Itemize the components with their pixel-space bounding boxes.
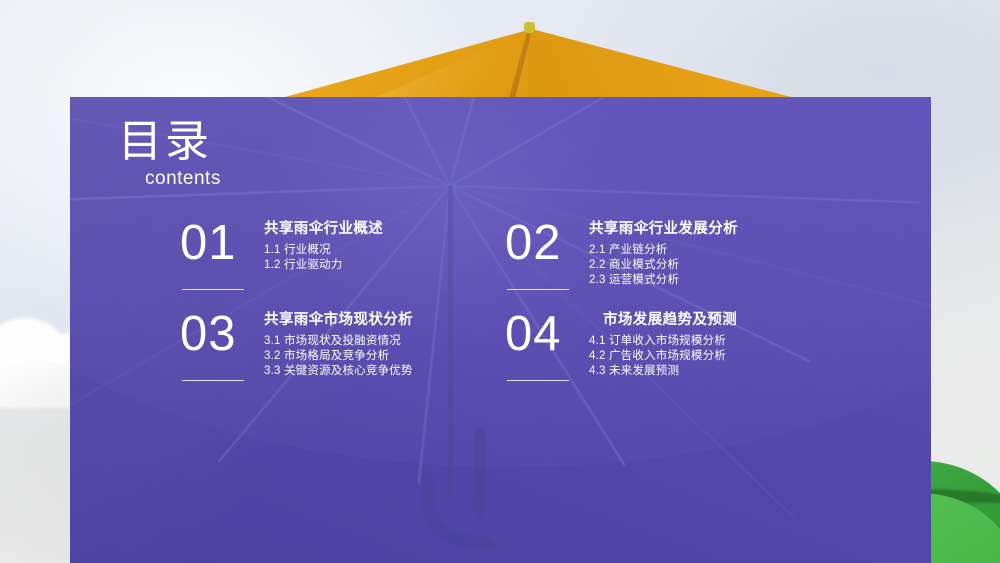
yellow-umbrella-tip bbox=[524, 22, 535, 33]
toc-divider bbox=[507, 289, 569, 290]
umbrella-handle-hook bbox=[422, 469, 498, 547]
page-title: 目录 contents bbox=[118, 119, 221, 190]
toc-subitem[interactable]: 2.1 产业链分析 bbox=[589, 243, 738, 258]
toc-subitem[interactable]: 4.1 订单收入市场规模分析 bbox=[589, 334, 737, 349]
toc-item-01[interactable]: 01 共享雨伞行业概述 1.1 行业概况 1.2 行业驱动力 bbox=[180, 215, 505, 288]
toc-subitem[interactable]: 2.2 商业模式分析 bbox=[589, 258, 738, 273]
table-of-contents: 01 共享雨伞行业概述 1.1 行业概况 1.2 行业驱动力 02 共享雨伞行业… bbox=[180, 215, 920, 379]
toc-divider bbox=[507, 380, 569, 381]
toc-number: 02 bbox=[505, 215, 589, 269]
toc-subitem[interactable]: 4.2 广告收入市场规模分析 bbox=[589, 349, 737, 364]
toc-number: 01 bbox=[180, 215, 264, 269]
toc-divider bbox=[182, 380, 244, 381]
toc-divider bbox=[182, 289, 244, 290]
toc-subitem[interactable]: 2.3 运营模式分析 bbox=[589, 273, 738, 288]
toc-body: 共享雨伞市场现状分析 3.1 市场现状及投融资情况 3.2 市场格局及竞争分析 … bbox=[264, 306, 413, 379]
umbrella-rib bbox=[450, 97, 815, 187]
toc-item-03[interactable]: 03 共享雨伞市场现状分析 3.1 市场现状及投融资情况 3.2 市场格局及竞争… bbox=[180, 306, 505, 379]
toc-subitem[interactable]: 3.1 市场现状及投融资情况 bbox=[264, 334, 413, 349]
title-chinese: 目录 bbox=[118, 119, 221, 165]
toc-heading[interactable]: 共享雨伞行业概述 bbox=[264, 219, 383, 239]
toc-number: 04 bbox=[505, 306, 589, 360]
toc-subitem[interactable]: 3.3 关键资源及核心竞争优势 bbox=[264, 364, 413, 379]
toc-heading[interactable]: 市场发展趋势及预测 bbox=[603, 310, 737, 330]
toc-heading[interactable]: 共享雨伞市场现状分析 bbox=[264, 310, 413, 330]
toc-body: 共享雨伞行业概述 1.1 行业概况 1.2 行业驱动力 bbox=[264, 215, 383, 273]
toc-subitem[interactable]: 3.2 市场格局及竞争分析 bbox=[264, 349, 413, 364]
toc-body: 共享雨伞行业发展分析 2.1 产业链分析 2.2 商业模式分析 2.3 运营模式… bbox=[589, 215, 738, 288]
toc-body: 市场发展趋势及预测 4.1 订单收入市场规模分析 4.2 广告收入市场规模分析 … bbox=[589, 306, 737, 379]
umbrella-rib bbox=[313, 97, 451, 186]
toc-number: 03 bbox=[180, 306, 264, 360]
umbrella-rib bbox=[449, 97, 518, 186]
presentation-slide: 目录 contents 01 共享雨伞行业概述 1.1 行业概况 1.2 行业驱… bbox=[0, 0, 1000, 563]
umbrella-rib bbox=[450, 185, 920, 203]
content-panel: 目录 contents 01 共享雨伞行业概述 1.1 行业概况 1.2 行业驱… bbox=[70, 97, 931, 563]
toc-subitem[interactable]: 1.2 行业驱动力 bbox=[264, 258, 383, 273]
toc-item-02[interactable]: 02 共享雨伞行业发展分析 2.1 产业链分析 2.2 商业模式分析 2.3 运… bbox=[505, 215, 830, 288]
toc-heading[interactable]: 共享雨伞行业发展分析 bbox=[589, 219, 738, 239]
title-english: contents bbox=[145, 168, 221, 190]
toc-item-04[interactable]: 04 市场发展趋势及预测 4.1 订单收入市场规模分析 4.2 广告收入市场规模… bbox=[505, 306, 830, 379]
toc-subitem[interactable]: 4.3 未来发展预测 bbox=[589, 364, 737, 379]
umbrella-handle-stem bbox=[474, 427, 486, 519]
toc-subitem[interactable]: 1.1 行业概况 bbox=[264, 243, 383, 258]
